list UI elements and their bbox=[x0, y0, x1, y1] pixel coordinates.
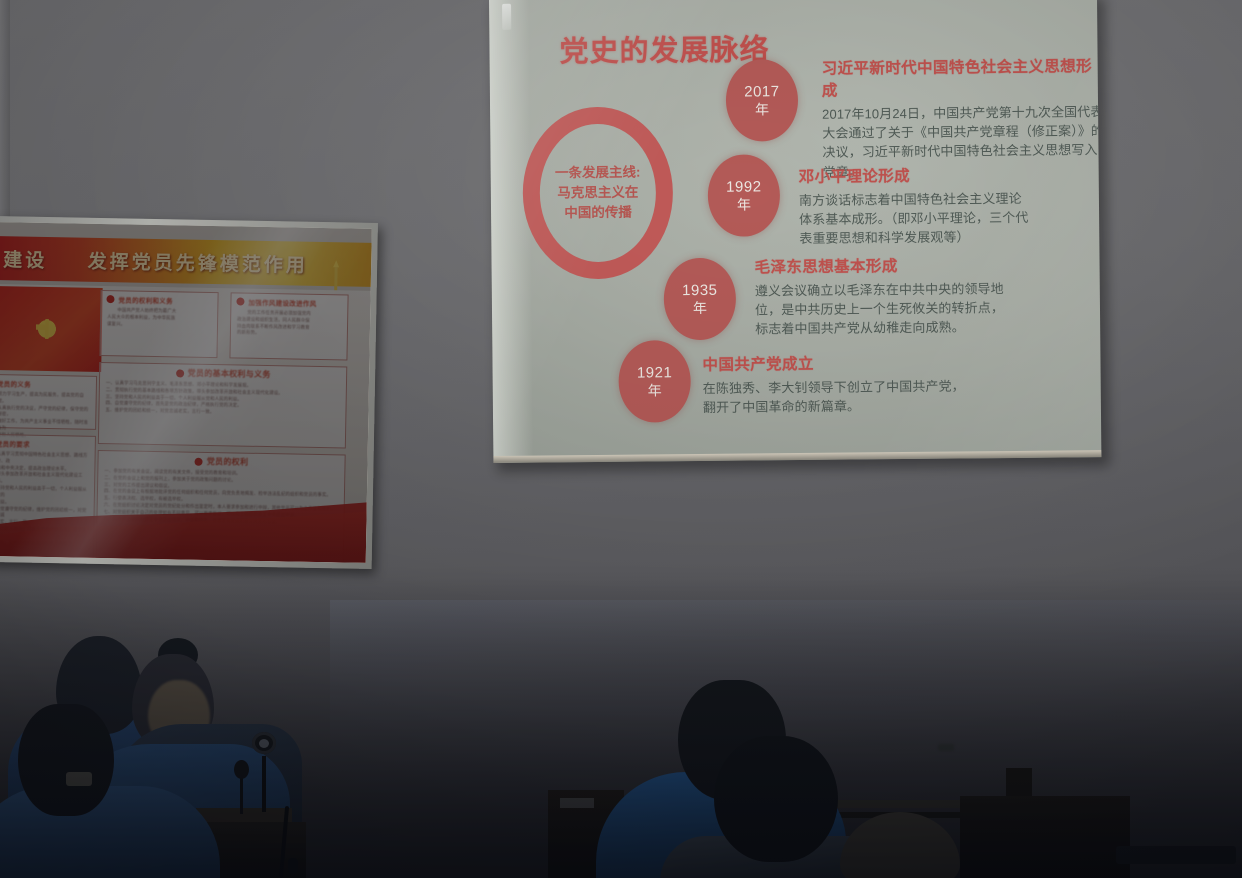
year-unit: 年 bbox=[693, 300, 707, 317]
panel-title-text: 党员的权利 bbox=[207, 456, 249, 468]
year-value: 1935 bbox=[682, 282, 718, 300]
poster-panel: 党员的权利和义务 中国共产党人始终把为最广大 人民大众的根本利益，为中华民族 谋… bbox=[99, 290, 218, 358]
milestone-heading: 邓小平理论形成 bbox=[799, 163, 1029, 187]
year-bubble-1935: 1935 年 bbox=[663, 258, 736, 341]
main-thread-line-3: 中国的传播 bbox=[564, 204, 632, 223]
panel-title-text: 加强作风建设改进作风 bbox=[248, 297, 316, 308]
year-bubble-1992: 1992 年 bbox=[707, 154, 780, 237]
poster-surface: 建设 发挥党员先锋模范作用 bbox=[0, 222, 372, 563]
panel-line: 谋复兴。 bbox=[107, 321, 211, 330]
photo-scene: 党史的发展脉络 一条发展主线: 马克思主义在 中国的传播 2017 年 1992… bbox=[0, 0, 1242, 878]
poster-header-left: 建设 bbox=[3, 250, 47, 272]
milestone-block-1921: 中国共产党成立 在陈独秀、李大钊领导下创立了中国共产党，翻开了中国革命的新篇章。 bbox=[702, 350, 968, 417]
panel-body: 一、认真学习马克思列宁主义、毛泽东思想、邓小平理论和科学发展观。 二、贯彻执行党… bbox=[99, 378, 346, 423]
screen-clip bbox=[502, 4, 511, 30]
screen-surface: 党史的发展脉络 一条发展主线: 马克思主义在 中国的传播 2017 年 1992… bbox=[489, 0, 1101, 463]
bullet-dot-icon bbox=[106, 295, 114, 303]
wall-shadow-band bbox=[0, 565, 1242, 878]
party-emblem-box bbox=[0, 286, 103, 372]
poster-header-text: 建设 发挥党员先锋模范作用 bbox=[3, 245, 308, 278]
poster-body: 党员的权利和义务 中国共产党人始终把为最广大 人民大众的根本利益，为中华民族 谋… bbox=[0, 284, 371, 563]
panel-line: 的新形势。 bbox=[237, 330, 341, 339]
year-value: 1992 bbox=[726, 178, 762, 196]
panel-title-text: 党员的要求 bbox=[0, 438, 30, 449]
main-thread-label: 一条发展主线: 马克思主义在 中国的传播 bbox=[522, 106, 674, 279]
panel-body: 党的工作任务开展必须加强党内 政治建设和组织生活，同人民群众保 持血肉联系不断作… bbox=[231, 307, 348, 342]
milestone-body: 遵义会议确立以毛泽东在中共中央的领导地位，是中共历史上一个生死攸关的转折点，标志… bbox=[755, 279, 1016, 339]
milestone-heading: 中国共产党成立 bbox=[702, 350, 967, 375]
milestone-heading: 习近平新时代中国特色社会主义思想形成 bbox=[822, 54, 1102, 101]
poster-header-banner: 建设 发挥党员先锋模范作用 bbox=[0, 236, 372, 287]
poster-panel: 加强作风建设改进作风 党的工作任务开展必须加强党内 政治建设和组织生活，同人民群… bbox=[229, 292, 348, 360]
panel-title-text: 党员的权利和义务 bbox=[118, 294, 173, 305]
main-thread-line-1: 一条发展主线: bbox=[555, 163, 641, 182]
poster-frame: 建设 发挥党员先锋模范作用 bbox=[0, 216, 378, 569]
poster-panel: 党员的义务 努力学习生产，提高为民服务，提高党的自觉。 认真执行党的决议，严守党… bbox=[0, 374, 97, 430]
panel-title-text: 党员的义务 bbox=[0, 378, 31, 389]
year-value: 1921 bbox=[637, 364, 673, 382]
year-unit: 年 bbox=[755, 101, 769, 118]
wall-poster-board: 建设 发挥党员先锋模范作用 bbox=[0, 216, 378, 569]
milestone-block-1992: 邓小平理论形成 南方谈话标志着中国特色社会主义理论体系基本成形。（即邓小平理论，… bbox=[799, 163, 1030, 249]
milestone-heading: 毛泽东思想基本形成 bbox=[754, 253, 1014, 277]
slide-content: 党史的发展脉络 一条发展主线: 马克思主义在 中国的传播 2017 年 1992… bbox=[489, 0, 1101, 463]
poster-panel: 党员的基本权利与义务 一、认真学习马克思列宁主义、毛泽东思想、邓小平理论和科学发… bbox=[98, 362, 347, 449]
bullet-dot-icon bbox=[176, 369, 184, 377]
panel-body: 中国共产党人始终把为最广大 人民大众的根本利益，为中华民族 谋复兴。 bbox=[101, 305, 217, 334]
milestone-body: 在陈独秀、李大钊领导下创立了中国共产党，翻开了中国革命的新篇章。 bbox=[703, 376, 968, 417]
poster-header-right: 发挥党员先锋模范作用 bbox=[88, 251, 308, 276]
bullet-dot-icon bbox=[195, 457, 203, 465]
panel-title-text: 党员的基本权利与义务 bbox=[188, 368, 271, 381]
year-bubble-2017: 2017 年 bbox=[726, 59, 799, 142]
hammer-sickle-icon bbox=[32, 314, 63, 345]
slide-title: 党史的发展脉络 bbox=[559, 26, 769, 70]
projection-screen: 党史的发展脉络 一条发展主线: 马克思主义在 中国的传播 2017 年 1992… bbox=[489, 0, 1105, 470]
bullet-dot-icon bbox=[236, 297, 244, 305]
year-value: 2017 bbox=[744, 83, 780, 101]
year-bubble-1921: 1921 年 bbox=[618, 340, 691, 423]
year-unit: 年 bbox=[737, 196, 751, 213]
main-thread-line-2: 马克思主义在 bbox=[557, 183, 638, 202]
year-unit: 年 bbox=[648, 382, 662, 399]
milestone-body: 南方谈话标志着中国特色社会主义理论体系基本成形。（即邓小平理论，三个代表重要思想… bbox=[799, 189, 1030, 249]
milestone-block-1935: 毛泽东思想基本形成 遵义会议确立以毛泽东在中共中央的领导地位，是中共历史上一个生… bbox=[754, 253, 1015, 339]
